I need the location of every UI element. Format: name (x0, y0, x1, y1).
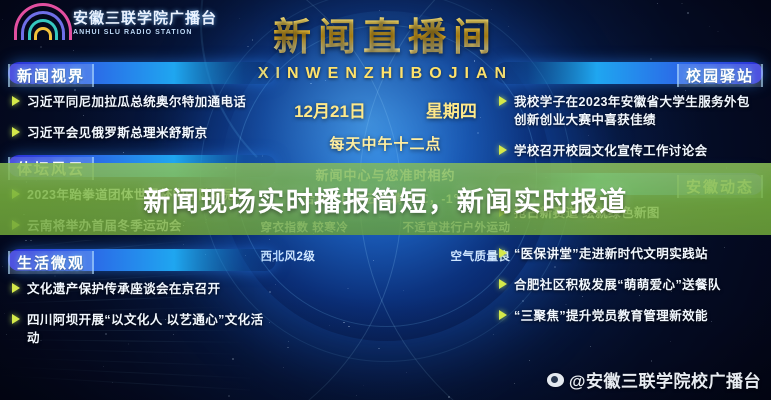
section-label: 生活微观 (8, 251, 94, 274)
news-item-text: 习近平同尼加拉瓜总统奥尔特加通电话 (27, 93, 246, 111)
section-label: 新闻视界 (8, 64, 94, 87)
date-text: 12月21日 (294, 97, 366, 122)
program-title: 新闻直播间 (0, 6, 771, 61)
news-section: 生活微观文化遗产保护传承座谈会在京召开四川阿坝开展“以文化人 以艺通心”文化活动 (8, 249, 276, 347)
news-item-text: 我校学子在2023年安徽省大学生服务外包创新创业大赛中喜获佳绩 (514, 93, 761, 129)
weibo-watermark: @安徽三联学院校广播台 (547, 367, 761, 392)
broadcast-graphic: 安徽三联学院广播台 ANHUI SLU RADIO STATION 新闻直播间 … (0, 0, 771, 400)
triangle-bullet-icon (12, 96, 20, 106)
news-section: 校园驿站我校学子在2023年安徽省大学生服务外包创新创业大赛中喜获佳绩学校召开校… (495, 62, 763, 160)
news-item-list: 习近平同尼加拉瓜总统奥尔特加通电话习近平会见俄罗斯总理米舒斯京 (8, 84, 276, 142)
news-item[interactable]: 文化遗产保护传承座谈会在京召开 (12, 280, 274, 298)
news-section: “医保讲堂”走进新时代文明实践站合肥社区积极发展“萌萌爱心”送餐队“三聚焦”提升… (495, 236, 763, 325)
triangle-bullet-icon (12, 314, 20, 324)
news-item[interactable]: “三聚焦”提升党员教育管理新效能 (499, 307, 761, 325)
news-item[interactable]: 习近平同尼加拉瓜总统奥尔特加通电话 (12, 93, 274, 111)
triangle-bullet-icon (499, 248, 507, 258)
news-item-text: 学校召开校园文化宣传工作讨论会 (514, 142, 708, 160)
news-item[interactable]: 合肥社区积极发展“萌萌爱心”送餐队 (499, 276, 761, 294)
news-section: 新闻视界习近平同尼加拉瓜总统奥尔特加通电话习近平会见俄罗斯总理米舒斯京 (8, 62, 276, 142)
news-item-text: 四川阿坝开展“以文化人 以艺通心”文化活动 (27, 311, 274, 347)
news-item[interactable]: 学校召开校园文化宣传工作讨论会 (499, 142, 761, 160)
triangle-bullet-icon (12, 283, 20, 293)
triangle-bullet-icon (499, 96, 507, 106)
news-item-list: 文化遗产保护传承座谈会在京召开四川阿坝开展“以文化人 以艺通心”文化活动 (8, 271, 276, 347)
triangle-bullet-icon (12, 127, 20, 137)
weibo-eye-icon (547, 373, 564, 387)
triangle-bullet-icon (499, 145, 507, 155)
news-item-list: 我校学子在2023年安徽省大学生服务外包创新创业大赛中喜获佳绩学校召开校园文化宣… (495, 84, 763, 160)
triangle-bullet-icon (499, 279, 507, 289)
triangle-bullet-icon (499, 310, 507, 320)
news-item[interactable]: 四川阿坝开展“以文化人 以艺通心”文化活动 (12, 311, 274, 347)
news-item[interactable]: 习近平会见俄罗斯总理米舒斯京 (12, 124, 274, 142)
news-item-text: “三聚焦”提升党员教育管理新效能 (514, 307, 708, 325)
news-item-text: 合肥社区积极发展“萌萌爱心”送餐队 (514, 276, 721, 294)
weekday-text: 星期四 (426, 97, 477, 122)
section-label: 校园驿站 (677, 64, 763, 87)
news-item-text: 文化遗产保护传承座谈会在京召开 (27, 280, 221, 298)
weather-row: 西北风2级空气质量良 (261, 248, 511, 264)
news-item-text: 习近平会见俄罗斯总理米舒斯京 (27, 124, 208, 142)
news-item-list: “医保讲堂”走进新时代文明实践站合肥社区积极发展“萌萌爱心”送餐队“三聚焦”提升… (495, 236, 763, 325)
overlay-headline: 新闻现场实时播报简短，新闻实时报道 (0, 180, 771, 219)
news-item[interactable]: 我校学子在2023年安徽省大学生服务外包创新创业大赛中喜获佳绩 (499, 93, 761, 129)
weibo-handle: @安徽三联学院校广播台 (569, 367, 761, 392)
news-item-text: “医保讲堂”走进新时代文明实践站 (514, 245, 708, 263)
news-item[interactable]: “医保讲堂”走进新时代文明实践站 (499, 245, 761, 263)
